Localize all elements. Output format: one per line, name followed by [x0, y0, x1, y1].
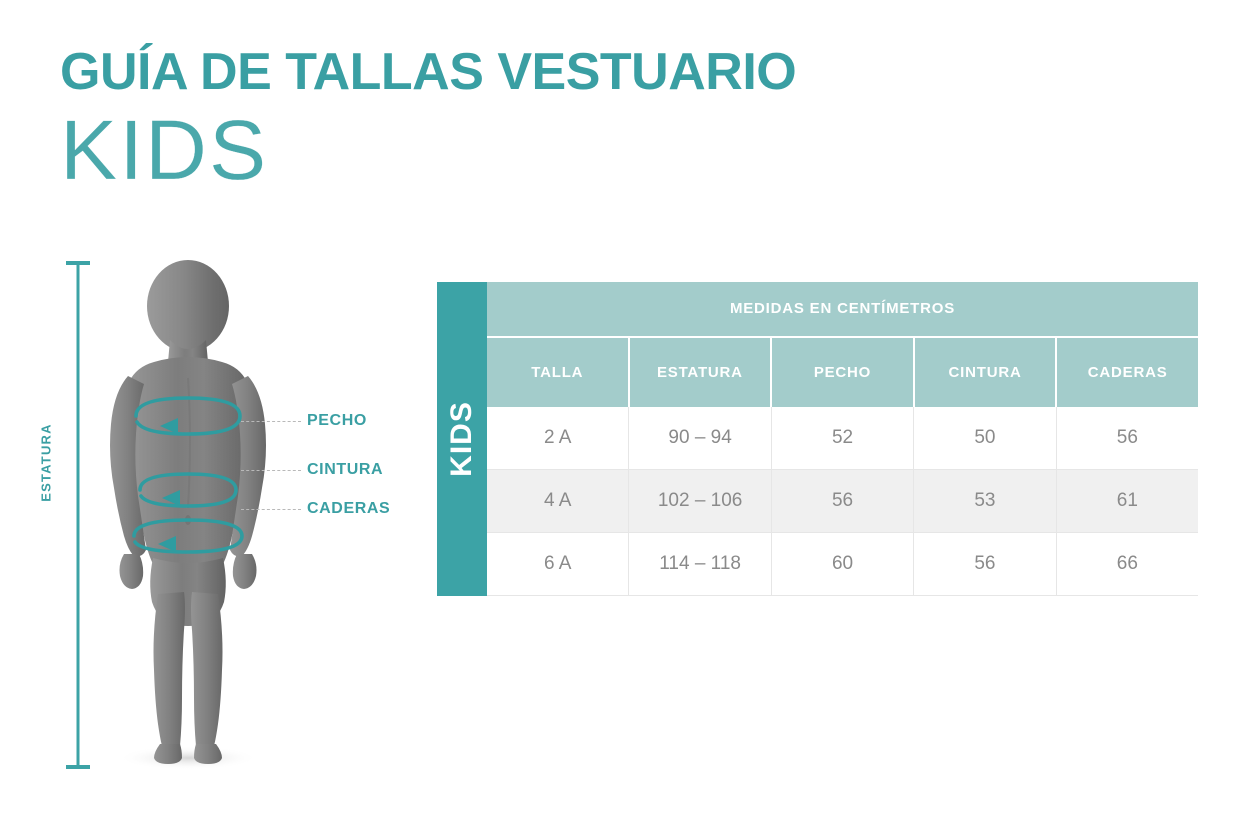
- table-row: 6 A 114 – 118 60 56 66: [487, 533, 1198, 596]
- label-caderas: CADERAS: [307, 500, 390, 518]
- label-cintura: CINTURA: [307, 461, 383, 479]
- cell-estatura: 90 – 94: [629, 407, 771, 469]
- cell-talla: 4 A: [487, 470, 629, 532]
- table-header-row: TALLA ESTATURA PECHO CINTURA CADERAS: [487, 338, 1198, 407]
- estatura-label: ESTATURA: [39, 403, 54, 523]
- cell-pecho: 56: [772, 470, 914, 532]
- column-header-pecho: PECHO: [772, 338, 915, 407]
- leader-line-hips: [241, 509, 301, 510]
- label-pecho: PECHO: [307, 412, 367, 430]
- units-banner: MEDIDAS EN CENTÍMETROS: [487, 282, 1198, 338]
- table-row: 2 A 90 – 94 52 50 56: [487, 407, 1198, 470]
- cell-caderas: 56: [1057, 407, 1198, 469]
- column-header-caderas: CADERAS: [1057, 338, 1198, 407]
- column-header-estatura: ESTATURA: [630, 338, 773, 407]
- cell-cintura: 53: [914, 470, 1056, 532]
- kids-vertical-text: KIDS: [445, 401, 479, 477]
- table-body: MEDIDAS EN CENTÍMETROS TALLA ESTATURA PE…: [487, 282, 1198, 596]
- cell-estatura: 114 – 118: [629, 533, 771, 595]
- cell-talla: 6 A: [487, 533, 629, 595]
- cell-caderas: 61: [1057, 470, 1198, 532]
- leader-line-chest: [241, 421, 301, 422]
- cell-talla: 2 A: [487, 407, 629, 469]
- child-mannequin-illustration: [92, 258, 284, 770]
- cell-estatura: 102 – 106: [629, 470, 771, 532]
- table-row: 4 A 102 – 106 56 53 61: [487, 470, 1198, 533]
- figure-area: ESTATURA: [0, 0, 430, 833]
- leader-line-waist: [241, 470, 301, 471]
- column-header-cintura: CINTURA: [915, 338, 1058, 407]
- size-table: KIDS MEDIDAS EN CENTÍMETROS TALLA ESTATU…: [437, 282, 1198, 596]
- cell-cintura: 50: [914, 407, 1056, 469]
- cell-pecho: 52: [772, 407, 914, 469]
- cell-cintura: 56: [914, 533, 1056, 595]
- cell-caderas: 66: [1057, 533, 1198, 595]
- table-side-label-kids: KIDS: [437, 282, 487, 596]
- column-header-talla: TALLA: [487, 338, 630, 407]
- cell-pecho: 60: [772, 533, 914, 595]
